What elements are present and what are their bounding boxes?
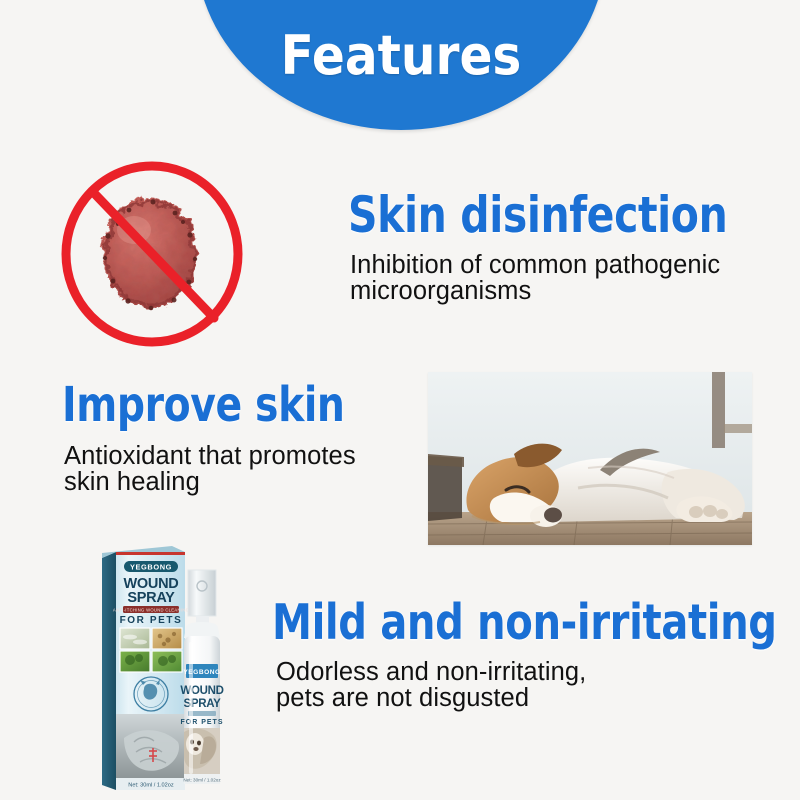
svg-text:SPRAY: SPRAY [127,590,175,606]
features-infographic: Features [0,0,800,800]
svg-text:YEGBONG: YEGBONG [130,562,172,571]
svg-text:Net: 30ml / 1.02oz: Net: 30ml / 1.02oz [183,778,221,783]
svg-text:WOUND: WOUND [180,685,223,697]
feature-heading-improve-skin: Improve skin [62,377,345,433]
feature-subtext-mild-non-irritating: Odorless and non-irritating, pets are no… [276,659,586,711]
feature-subtext-improve-skin: Antioxidant that promotes skin healing [64,443,356,495]
svg-text:YEGBONG: YEGBONG [183,669,220,676]
no-bacteria-icon [56,158,248,348]
feature-heading-skin-disinfection: Skin disinfection [348,186,727,244]
svg-text:ANTI-ITCHING WOUND CLEANING: ANTI-ITCHING WOUND CLEANING [113,608,189,613]
sleeping-dog-photo [428,372,752,545]
product-photo: YEGBONG WOUND SPRAY ANTI-ITCHING WOUND C… [96,542,254,798]
svg-text:Net: 30ml / 1.02oz: Net: 30ml / 1.02oz [128,782,174,788]
feature-subtext-skin-disinfection: Inhibition of common pathogenic microorg… [350,252,720,304]
svg-text:FOR PETS: FOR PETS [180,719,223,726]
feature-heading-mild-non-irritating: Mild and non-irritating [272,594,777,651]
svg-text:FOR PETS: FOR PETS [120,615,183,626]
page-title: Features [217,20,586,92]
